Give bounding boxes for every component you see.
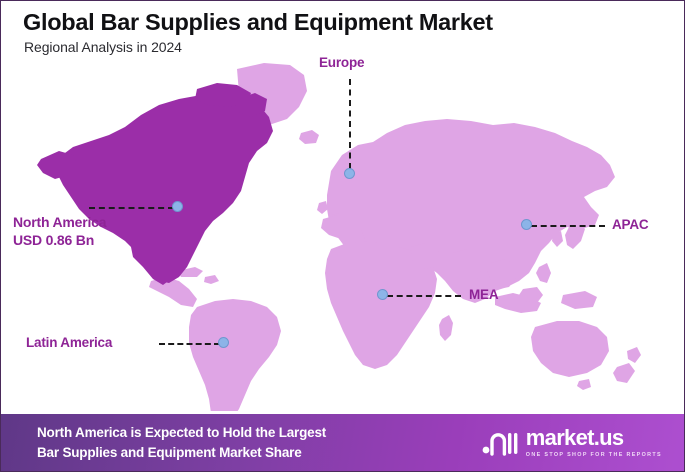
region-name-europe: Europe [319,55,364,70]
landmass-new-guinea [561,291,597,309]
banner-line-2: Bar Supplies and Equipment Market Share [37,443,326,463]
leader-europe [349,79,351,169]
region-name-mea: MEA [469,287,498,302]
infographic-root: Global Bar Supplies and Equipment Market… [0,0,685,472]
marker-latin-america [218,337,229,348]
map-highlight-north-america [37,83,273,285]
page-subtitle: Regional Analysis in 2024 [24,39,182,55]
landmass-new-zealand-s [613,363,635,383]
region-label-europe: Europe [319,55,364,72]
landmass-philippines [536,263,551,283]
banner-line-1: North America is Expected to Hold the La… [37,423,326,443]
region-name-north-america: North America [13,214,106,230]
marker-north-america [172,201,183,212]
region-name-latin-america: Latin America [26,335,112,350]
marker-apac [521,219,532,230]
region-label-north-america: North America USD 0.86 Bn [13,214,106,249]
leader-mea [387,295,461,297]
market-us-logo-icon [481,428,519,458]
landmass-central-america [149,277,197,307]
banner-headline: North America is Expected to Hold the La… [37,423,326,462]
landmass-south-america [189,299,281,411]
brand-text-block: market.us ONE STOP SHOP FOR THE REPORTS [526,427,662,458]
region-name-apac: APAC [612,217,648,232]
landmass-madagascar [439,315,453,341]
landmass-hispaniola [204,275,219,284]
landmass-north-america [57,93,273,283]
landmass-iceland [299,130,319,144]
region-value-north-america: USD 0.86 Bn [13,232,106,250]
marker-mea [377,289,388,300]
landmass-ireland [317,201,328,214]
landmass-korea [552,231,563,247]
landmass-australia [531,321,609,377]
leader-latin-america [159,343,220,345]
footer-banner: North America is Expected to Hold the La… [1,414,685,471]
landmass-tasmania [577,379,591,390]
brand-name: market.us [526,427,662,449]
brand-tagline: ONE STOP SHOP FOR THE REPORTS [526,452,662,458]
region-label-apac: APAC [612,217,648,234]
brand-logo: market.us ONE STOP SHOP FOR THE REPORTS [481,427,662,458]
marker-europe [344,168,355,179]
landmass-new-zealand-n [627,347,641,363]
leader-apac [531,225,605,227]
page-title: Global Bar Supplies and Equipment Market [23,9,493,36]
leader-north-america [89,207,174,209]
region-label-mea: MEA [469,287,498,304]
region-label-latin-america: Latin America [26,335,112,352]
